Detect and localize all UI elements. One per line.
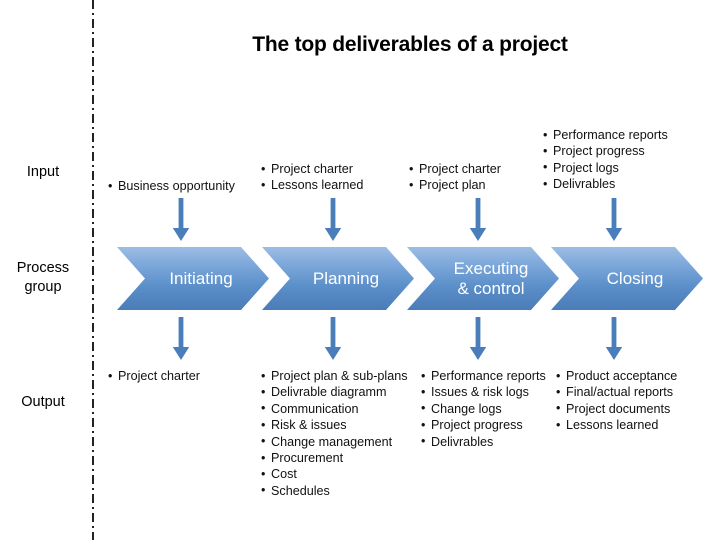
- output-list-planning: Project plan & sub-plansDelivrable diagr…: [261, 368, 408, 499]
- output-list-closing: Product acceptanceFinal/actual reportsPr…: [556, 368, 677, 434]
- list-item: Performance reports: [421, 368, 546, 384]
- list-item: Project progress: [421, 417, 546, 433]
- list-item: Project progress: [543, 143, 668, 159]
- output-list-executing: Performance reportsIssues & risk logsCha…: [421, 368, 546, 450]
- process-stage-label: Planning: [297, 269, 379, 289]
- arrow-down-icon-output-4: [603, 317, 625, 361]
- list-item: Change management: [261, 434, 408, 450]
- list-item: Performance reports: [543, 127, 668, 143]
- diagram-canvas: The top deliverables of a project Input …: [0, 0, 720, 540]
- arrow-down-icon-input-3: [467, 198, 489, 242]
- list-item: Project logs: [543, 160, 668, 176]
- list-item: Project charter: [261, 161, 363, 177]
- list-item: Project documents: [556, 401, 677, 417]
- row-label-output: Output: [0, 393, 86, 412]
- row-label-input: Input: [0, 163, 86, 182]
- list-item: Delivrables: [421, 434, 546, 450]
- list-item: Delivrables: [543, 176, 668, 192]
- process-stage-executing-control[interactable]: Executing & control: [407, 247, 559, 310]
- list-item: Product acceptance: [556, 368, 677, 384]
- arrow-down-icon-output-3: [467, 317, 489, 361]
- list-item: Project charter: [409, 161, 501, 177]
- list-item: Project plan: [409, 177, 501, 193]
- list-item: Delivrable diagramm: [261, 384, 408, 400]
- arrow-down-icon-input-1: [170, 198, 192, 242]
- arrow-down-icon-input-4: [603, 198, 625, 242]
- input-list-executing: Project charterProject plan: [409, 161, 501, 194]
- process-stage-planning[interactable]: Planning: [262, 247, 414, 310]
- list-item: Final/actual reports: [556, 384, 677, 400]
- list-item: Business opportunity: [108, 178, 235, 194]
- process-group-band: Initiating Planning Executing & control …: [0, 247, 720, 313]
- process-stage-label: Executing & control: [438, 259, 529, 299]
- list-item: Issues & risk logs: [421, 384, 546, 400]
- page-title: The top deliverables of a project: [110, 33, 710, 57]
- arrow-down-icon-output-2: [322, 317, 344, 361]
- list-item: Risk & issues: [261, 417, 408, 433]
- list-item: Schedules: [261, 483, 408, 499]
- arrow-down-icon-input-2: [322, 198, 344, 242]
- arrow-down-icon-output-1: [170, 317, 192, 361]
- list-item: Communication: [261, 401, 408, 417]
- list-item: Lessons learned: [261, 177, 363, 193]
- list-item: Procurement: [261, 450, 408, 466]
- list-item: Project plan & sub-plans: [261, 368, 408, 384]
- process-stage-label: Closing: [591, 269, 664, 289]
- list-item: Cost: [261, 466, 408, 482]
- list-item: Project charter: [108, 368, 200, 384]
- list-item: Lessons learned: [556, 417, 677, 433]
- input-list-planning: Project charterLessons learned: [261, 161, 363, 194]
- list-item: Change logs: [421, 401, 546, 417]
- process-stage-initiating[interactable]: Initiating: [117, 247, 269, 310]
- input-list-initiating: Business opportunity: [108, 178, 235, 194]
- input-list-closing: Performance reportsProject progressProje…: [543, 127, 668, 193]
- process-stage-label: Initiating: [153, 269, 232, 289]
- output-list-initiating: Project charter: [108, 368, 200, 384]
- process-stage-closing[interactable]: Closing: [551, 247, 703, 310]
